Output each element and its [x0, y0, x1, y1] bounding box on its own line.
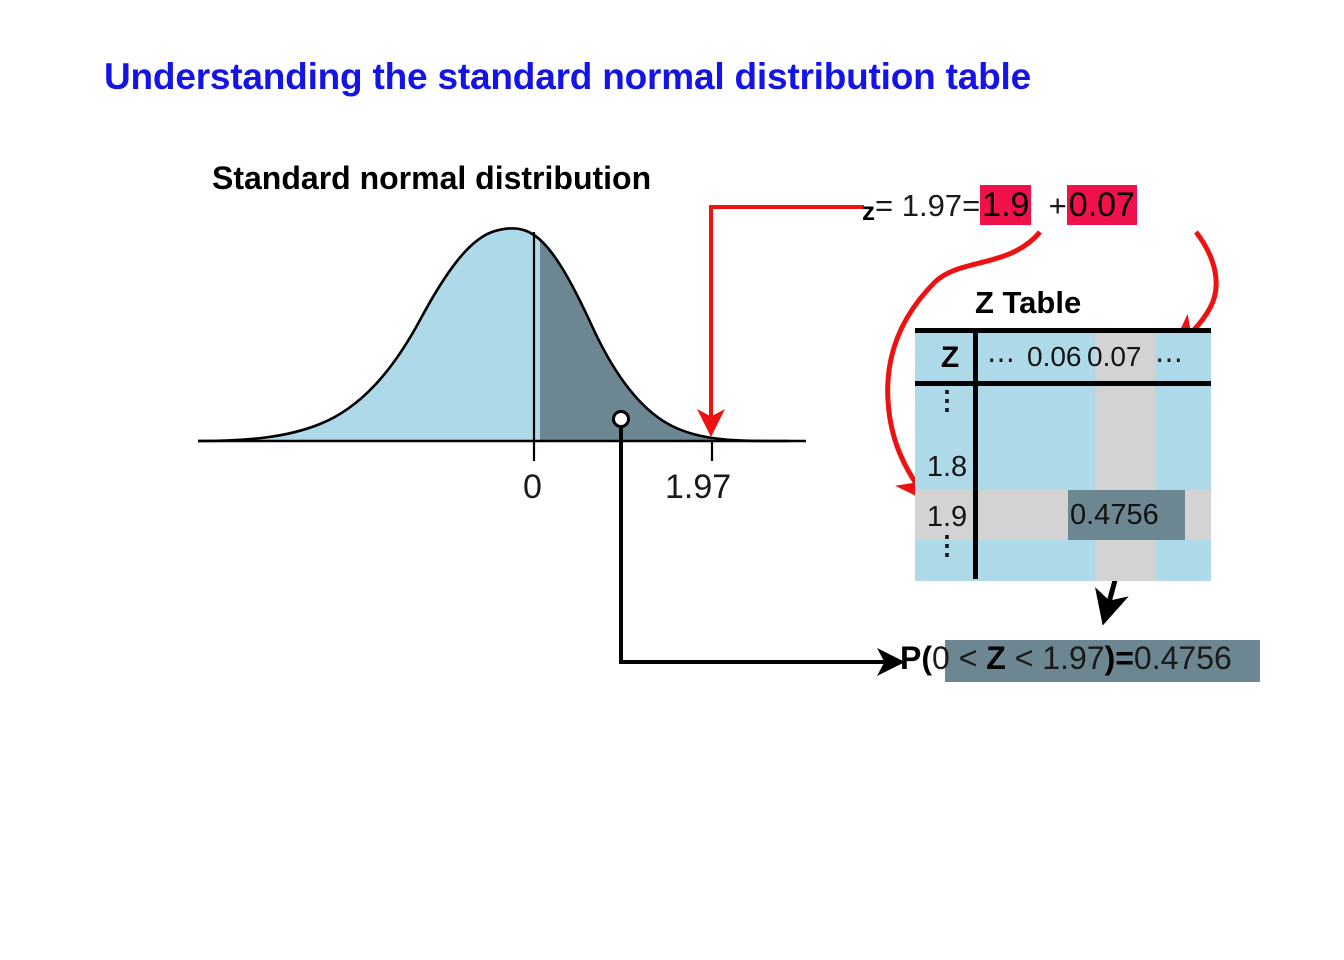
formula-part-whole: 1.9	[980, 185, 1031, 225]
z-table-row-label-ellipsis-bottom: ⋮	[921, 540, 973, 551]
result-open-paren: (	[921, 640, 932, 676]
axis-point-marker	[614, 412, 629, 427]
axis-label-z-value: 1.97	[665, 468, 731, 507]
result-value: 0.4756	[1134, 640, 1232, 676]
z-table-top-rule	[915, 328, 1211, 333]
z-table: Z ⋯ 0.06 0.07 ⋯ ⋮ 1.8 1.9 ⋮ 0.4756	[915, 333, 1211, 581]
result-close-paren: )	[1105, 640, 1116, 676]
formula-z-symbol: z	[862, 196, 875, 226]
result-equals: =	[1115, 640, 1134, 676]
result-lt-first: <	[959, 640, 978, 676]
z-table-result-value: 0.4756	[1070, 499, 1159, 532]
z-table-col-header-ellipsis-left: ⋯	[987, 343, 1017, 376]
z-decomposition-formula: z= 1.97=1.9 +0.07	[862, 186, 1137, 230]
axis-label-zero: 0	[523, 468, 542, 507]
formula-equals-value: = 1.97	[875, 188, 962, 223]
z-table-vertical-rule	[973, 329, 978, 579]
z-table-row-label-ellipsis-top: ⋮	[921, 395, 973, 406]
probability-result: P(0 < Z < 1.97)=0.4756	[900, 640, 1232, 686]
z-table-col-header-007: 0.07	[1087, 341, 1142, 373]
result-lower-bound: 0	[932, 640, 950, 676]
normal-curve-fill	[198, 228, 790, 441]
result-upper-bound: 1.97	[1042, 640, 1104, 676]
z-table-col-header-ellipsis-right: ⋯	[1155, 343, 1185, 376]
z-table-title: Z Table	[975, 285, 1081, 321]
result-p-label: P	[900, 640, 921, 676]
formula-plus-sign: +	[1049, 188, 1067, 223]
z-table-corner-header: Z	[927, 341, 973, 375]
z-table-row-label-18: 1.8	[921, 451, 973, 484]
connector-curve-to-result	[621, 426, 898, 662]
formula-part-decimal: 0.07	[1067, 185, 1137, 225]
z-table-col-header-006: 0.06	[1027, 341, 1082, 373]
result-lt-second: <	[1015, 640, 1034, 676]
formula-equals-sign: =	[962, 188, 980, 223]
slide-canvas: Understanding the standard normal distri…	[0, 0, 1344, 960]
result-variable: Z	[986, 640, 1006, 676]
